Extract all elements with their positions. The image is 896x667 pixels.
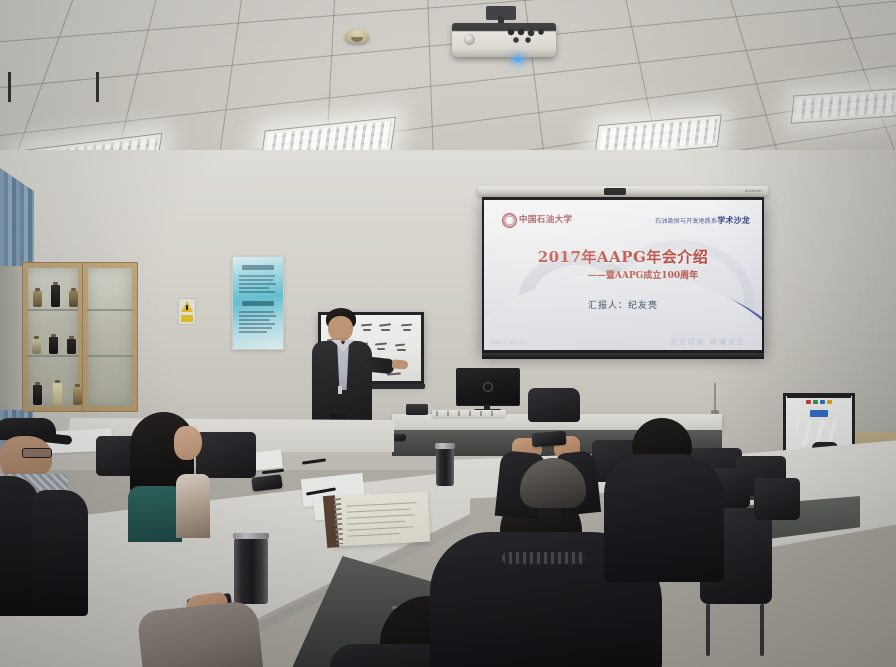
attendee-woman [124, 412, 218, 542]
cabinet-door-left [22, 262, 84, 412]
attendee-right [610, 418, 730, 578]
ceiling-light-fixture [791, 88, 896, 124]
department-seminar-label: 石油勘探与开发地质系学术沙龙 [655, 215, 750, 226]
presenter-arm [361, 356, 394, 374]
seminar-emphasis: 学术沙龙 [717, 216, 750, 225]
thermos-lid [435, 443, 455, 449]
projector-lens-icon [464, 34, 475, 45]
sample-jar [32, 339, 41, 354]
office-chair[interactable] [754, 478, 802, 542]
presenter-badge [338, 386, 342, 394]
glasses-icon [22, 448, 52, 458]
warning-label [181, 315, 193, 322]
slide-date: 2017.04.20 [492, 340, 527, 346]
thermos-lid [233, 533, 269, 539]
cabinet-door-right [82, 262, 138, 412]
attendee-cap [0, 418, 118, 618]
whiteboard-top-rail [787, 394, 851, 398]
slide-title: 2017年AAPG年会介绍 [484, 246, 762, 267]
slide-header: 中国石油大学 石油勘探与开发地质系学术沙龙 [502, 212, 750, 228]
specimen-display-cabinet[interactable] [8, 262, 140, 410]
sample-jar [49, 337, 58, 354]
sample-jar [73, 387, 82, 405]
projector-power-led [514, 57, 522, 62]
wall-cable [714, 383, 716, 413]
warning-sign [178, 298, 196, 325]
information-poster [232, 256, 284, 350]
presentation-slide: 中国石油大学 石油勘探与开发地质系学术沙龙 2017年AAPG年会介绍 ——暨A… [484, 200, 762, 350]
dell-logo-icon [483, 382, 493, 392]
power-sockets [436, 411, 502, 416]
presenter-belt [330, 414, 346, 420]
notebook-spiral-binding [334, 498, 343, 544]
sample-jar [51, 285, 60, 307]
power-strip[interactable] [432, 410, 506, 417]
sample-jar [33, 385, 42, 405]
sample-jar [33, 291, 42, 307]
screen-mount-bracket [604, 188, 626, 195]
university-logo-icon [502, 213, 517, 228]
university-name: 中国石油大学 [519, 213, 572, 225]
whiteboard-leg [8, 72, 11, 102]
screen-brand-label: Bonlinet [745, 188, 762, 193]
attendee-top [128, 486, 182, 542]
raised-smartphone [532, 431, 567, 447]
projector-vents [506, 28, 546, 44]
magnet-red [806, 400, 811, 404]
cabinet-side-panel [0, 266, 22, 410]
smoke-detector-icon [345, 29, 369, 43]
blue-note-card [810, 410, 828, 417]
presenter [300, 308, 392, 436]
office-chair[interactable] [528, 388, 580, 424]
ceiling-projector [452, 6, 560, 68]
sample-jar [67, 339, 76, 354]
whiteboard-leg [96, 72, 99, 102]
slide-presenter-line: 汇报人：纪友亮 [484, 298, 762, 311]
desk-remote [392, 434, 406, 441]
magnet-yellow [827, 400, 832, 404]
magnet-blue [820, 400, 825, 404]
desktop-monitor[interactable] [456, 368, 518, 412]
attendee-jacket [32, 490, 88, 616]
slide-subtitle: ——暨AAPG成立100周年 [484, 268, 762, 281]
attendee-face [174, 426, 202, 460]
warning-triangle-icon [181, 301, 193, 312]
spiral-notebook [332, 492, 430, 547]
attendee-scarf [176, 474, 210, 538]
screen-weight-bar [482, 353, 764, 359]
desk-device [406, 404, 428, 415]
attendee-jacket [604, 454, 724, 582]
presenter-pointing-hand [392, 359, 409, 369]
attendee-sleeve [137, 600, 264, 667]
projection-screen: Bonlinet 中国石油大学 石油勘探与开发地质系学术沙龙 2017年AAPG… [478, 186, 768, 362]
department-prefix: 石油勘探与开发地质系 [655, 218, 717, 225]
sample-jar [69, 291, 78, 307]
magnet-green [813, 400, 818, 404]
attendee-front-left [150, 580, 340, 667]
sample-jar [53, 383, 62, 405]
meeting-room-photo: Bonlinet 中国石油大学 石油勘探与开发地质系学术沙龙 2017年AAPG… [0, 0, 896, 667]
slide-footer-note: 克拉玛依 新疆克拉 [670, 337, 746, 347]
